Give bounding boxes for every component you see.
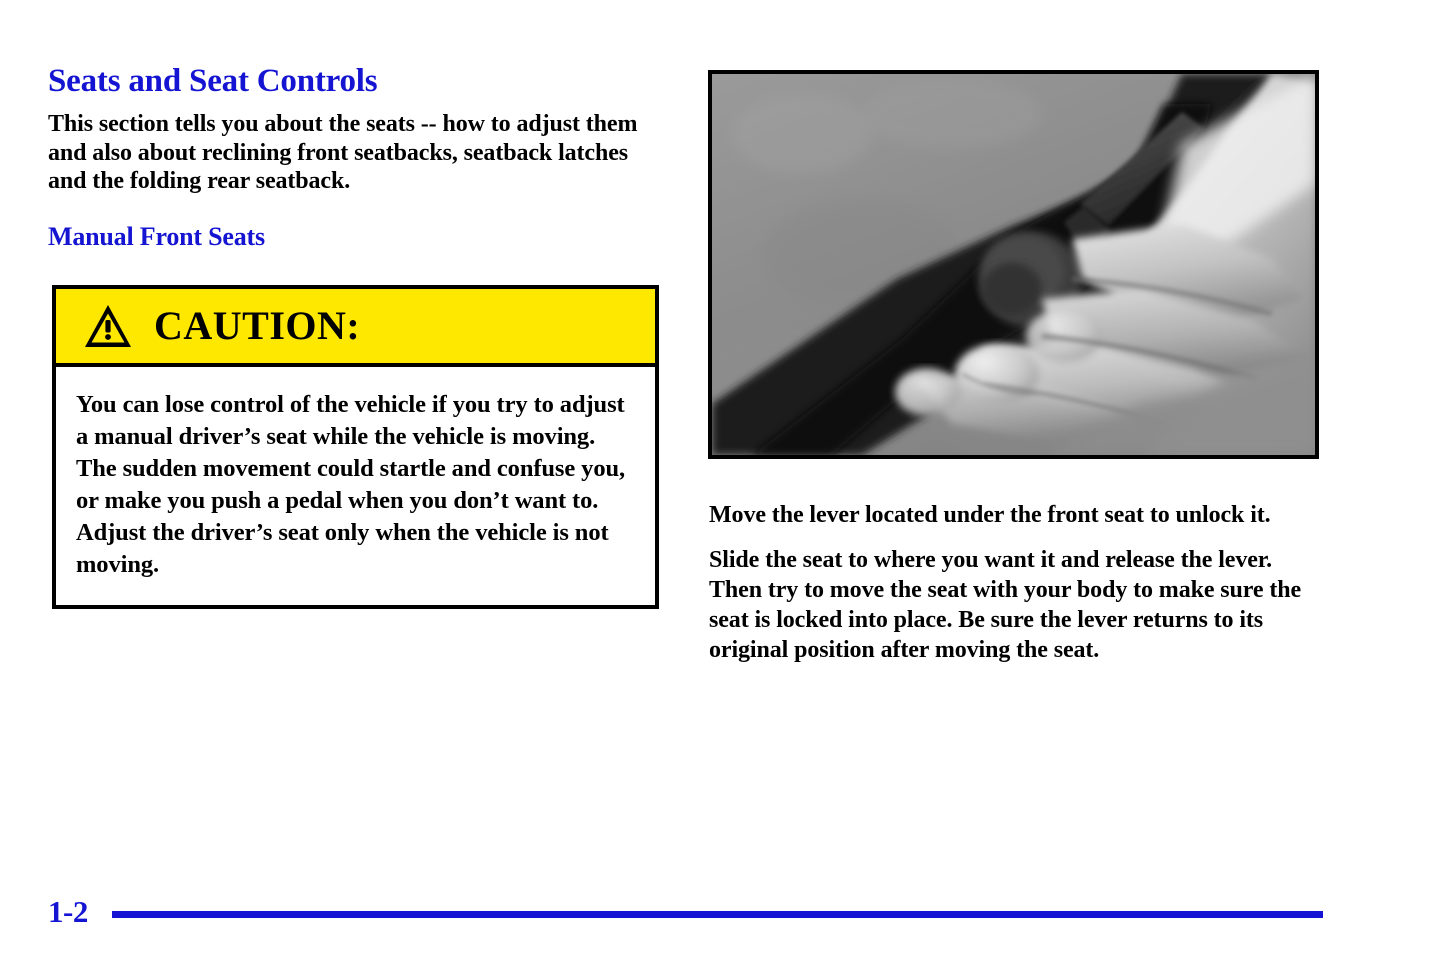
- caution-box: CAUTION: You can lose control of the veh…: [52, 285, 659, 609]
- instruction-paragraph-1: Move the lever located under the front s…: [709, 500, 1323, 530]
- manual-page: Seats and Seat Controls This section tel…: [0, 0, 1445, 965]
- warning-triangle-icon: [84, 304, 132, 348]
- intro-paragraph: This section tells you about the seats -…: [48, 110, 663, 196]
- page-title: Seats and Seat Controls: [48, 62, 663, 100]
- page-number: 1-2: [48, 896, 88, 927]
- page-footer: 1-2: [48, 888, 1323, 934]
- right-column: Move the lever located under the front s…: [709, 500, 1323, 665]
- caution-text: You can lose control of the vehicle if y…: [76, 389, 631, 581]
- caution-label: CAUTION:: [154, 306, 360, 346]
- instruction-paragraph-2: Slide the seat to where you want it and …: [709, 545, 1323, 665]
- left-column: Seats and Seat Controls This section tel…: [48, 62, 663, 272]
- caution-body: You can lose control of the vehicle if y…: [56, 367, 655, 605]
- seat-lever-photo-image: [712, 74, 1315, 455]
- subsection-title: Manual Front Seats: [48, 222, 663, 252]
- figure-seat-lever-photo: [708, 70, 1319, 459]
- footer-rule: [112, 911, 1323, 918]
- caution-header: CAUTION:: [56, 289, 655, 367]
